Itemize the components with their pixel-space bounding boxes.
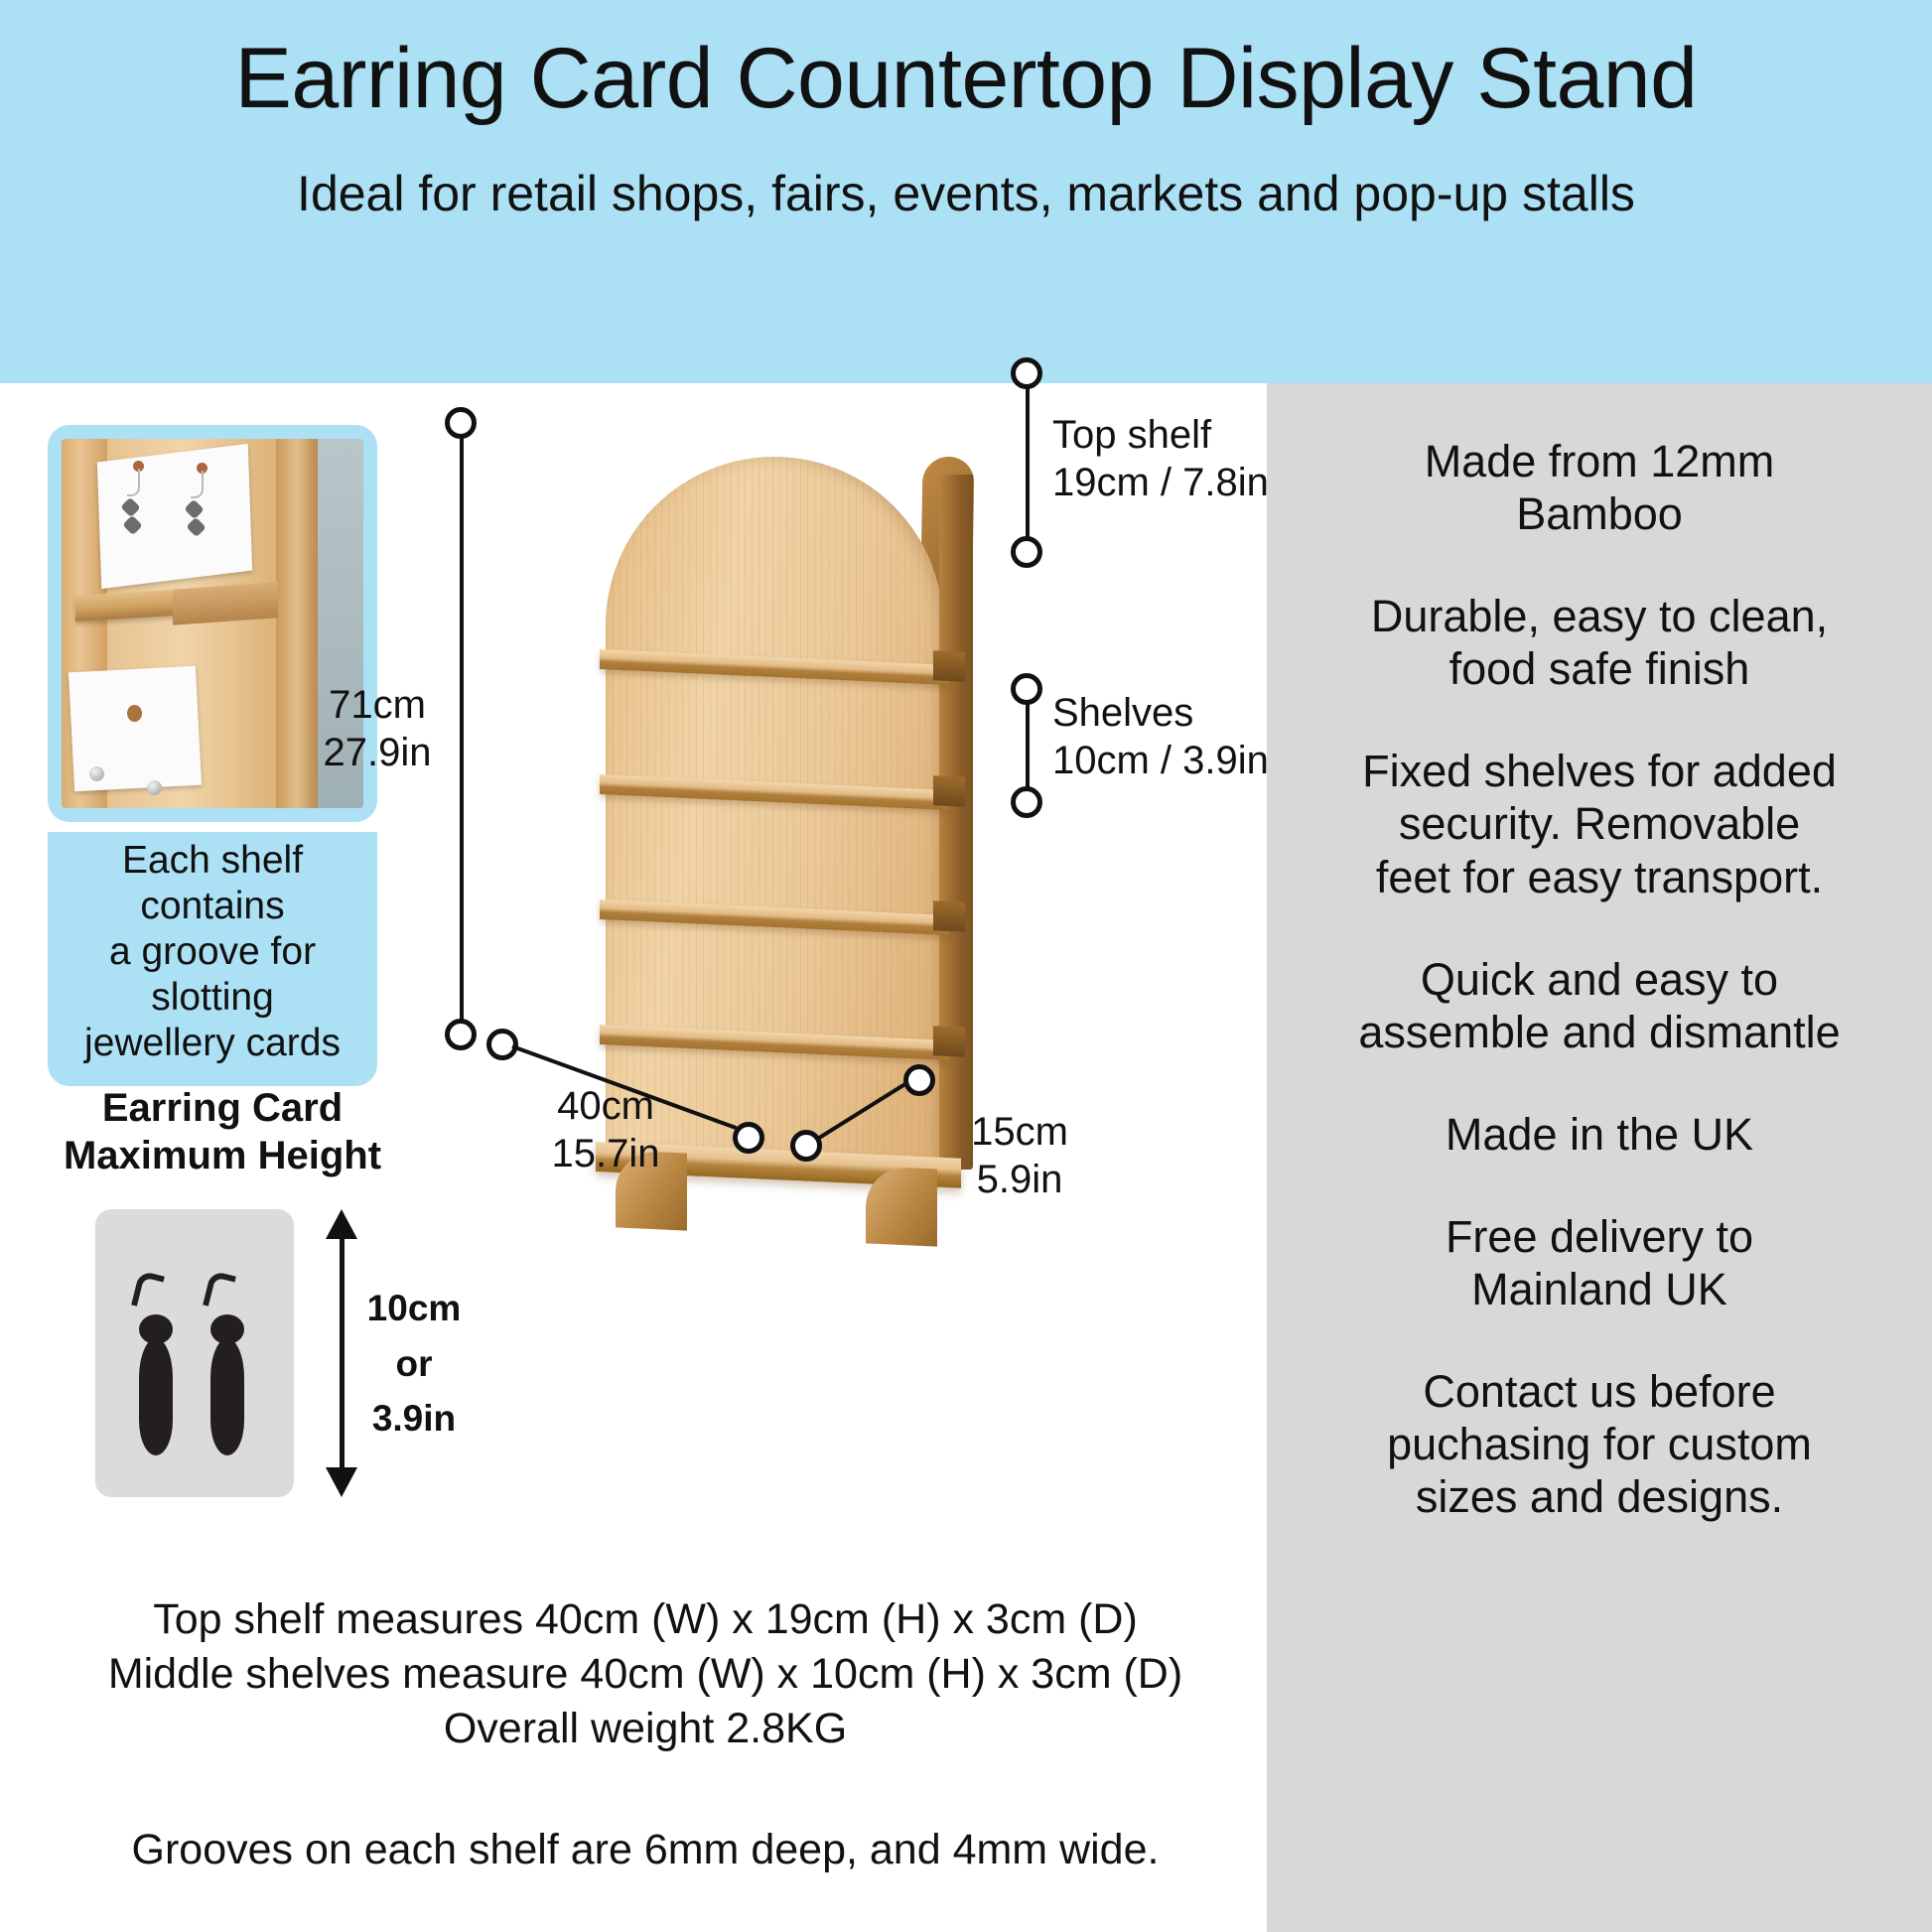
callout-dot-shelves-top xyxy=(1011,673,1042,705)
stand-side-edge xyxy=(939,475,973,1170)
earring-drop-icon xyxy=(139,1338,173,1455)
callout-line-shelves xyxy=(1026,703,1030,794)
feature-item: Quick and easy toassemble and dismantle xyxy=(1293,953,1906,1058)
height-callout-in: 27.9in xyxy=(293,729,462,776)
earring-card-graphic xyxy=(95,1209,294,1497)
height-callout-cm: 71cm xyxy=(293,681,462,729)
earring-card-dimension-label: 10cm or 3.9in xyxy=(349,1281,479,1447)
earring-card-title-line-2: Maximum Height xyxy=(44,1132,401,1179)
callout-dot-height-bottom xyxy=(445,1019,477,1050)
feature-item: Free delivery toMainland UK xyxy=(1293,1210,1906,1315)
photo-earring-card-top xyxy=(97,444,252,589)
width-callout-cm: 40cm xyxy=(496,1082,715,1130)
callout-label-depth: 15cm 5.9in xyxy=(925,1108,1114,1203)
photo-earring-hook xyxy=(191,471,204,498)
photo-shelf-groove-lip xyxy=(173,582,278,624)
width-callout-in: 15.7in xyxy=(496,1130,715,1177)
photo-earring-hook xyxy=(127,469,140,496)
feature-item: Contact us beforepuchasing for customsiz… xyxy=(1293,1365,1906,1523)
photo-caption-line-3: jewellery cards xyxy=(60,1021,365,1066)
photo-caption-line-2: a groove for slotting xyxy=(60,929,365,1021)
earring-hook-icon xyxy=(131,1270,165,1311)
callout-label-width: 40cm 15.7in xyxy=(496,1082,715,1177)
callout-dot-topshelf-bottom xyxy=(1011,536,1042,568)
spec-line-weight: Overall weight 2.8KG xyxy=(40,1702,1251,1756)
shelf-end-cap xyxy=(933,775,965,806)
photo-caption-line-1: Each shelf contains xyxy=(60,838,365,929)
arrow-shaft xyxy=(340,1235,345,1473)
groove-note-text: Grooves on each shelf are 6mm deep, and … xyxy=(40,1825,1251,1876)
photo-card-hole xyxy=(127,705,142,722)
page-header: Earring Card Countertop Display Stand Id… xyxy=(0,0,1932,383)
callout-dot-depth-left xyxy=(790,1130,822,1162)
callout-dot-shelves-bottom xyxy=(1011,786,1042,818)
earring-icon xyxy=(201,1273,256,1451)
spec-line-middle-shelves: Middle shelves measure 40cm (W) x 10cm (… xyxy=(40,1647,1251,1702)
feature-item: Made in the UK xyxy=(1293,1108,1906,1161)
earring-dimension-or: or xyxy=(349,1336,479,1392)
earring-dimension-in: 3.9in xyxy=(349,1391,479,1447)
depth-callout-cm: 15cm xyxy=(925,1108,1114,1156)
callout-dot-height-top xyxy=(445,407,477,439)
earring-dimension-cm: 10cm xyxy=(349,1281,479,1336)
callout-label-height: 71cm 27.9in xyxy=(293,681,462,776)
page-subtitle: Ideal for retail shops, fairs, events, m… xyxy=(297,167,1635,221)
feature-item: Durable, easy to clean,food safe finish xyxy=(1293,590,1906,695)
arrow-down-head-icon xyxy=(326,1467,357,1497)
callout-line-topshelf xyxy=(1026,387,1030,544)
shelf-end-cap xyxy=(933,650,965,681)
feature-item: Made from 12mmBamboo xyxy=(1293,435,1906,540)
earring-card-block-title: Earring Card Maximum Height xyxy=(44,1084,401,1179)
feature-item: Fixed shelves for addedsecurity. Removab… xyxy=(1293,745,1906,902)
spec-line-top-shelf: Top shelf measures 40cm (W) x 19cm (H) x… xyxy=(40,1592,1251,1647)
earring-icon xyxy=(129,1273,185,1451)
earring-hook-icon xyxy=(203,1270,236,1311)
shelf-end-cap xyxy=(933,900,965,931)
features-panel: Made from 12mmBamboo Durable, easy to cl… xyxy=(1267,383,1932,1932)
callout-dot-topshelf-top xyxy=(1011,357,1042,389)
shelf-end-cap xyxy=(933,1026,965,1056)
depth-callout-in: 5.9in xyxy=(925,1156,1114,1203)
photo-stud-earring xyxy=(89,766,104,781)
earring-drop-icon xyxy=(210,1338,244,1455)
photo-stud-earring xyxy=(147,780,162,795)
callout-dot-depth-right xyxy=(903,1064,935,1096)
photo-inset-caption: Each shelf contains a groove for slottin… xyxy=(48,832,377,1086)
page-title: Earring Card Countertop Display Stand xyxy=(235,34,1698,123)
specification-text-block: Top shelf measures 40cm (W) x 19cm (H) x… xyxy=(40,1592,1251,1756)
earring-card-title-line-1: Earring Card xyxy=(44,1084,401,1132)
callout-dot-width-right xyxy=(733,1122,764,1154)
product-diagram: 71cm 27.9in Top shelf 19cm / 7.8in Shelv… xyxy=(556,437,1271,1350)
stand-back-panel xyxy=(606,457,943,1172)
